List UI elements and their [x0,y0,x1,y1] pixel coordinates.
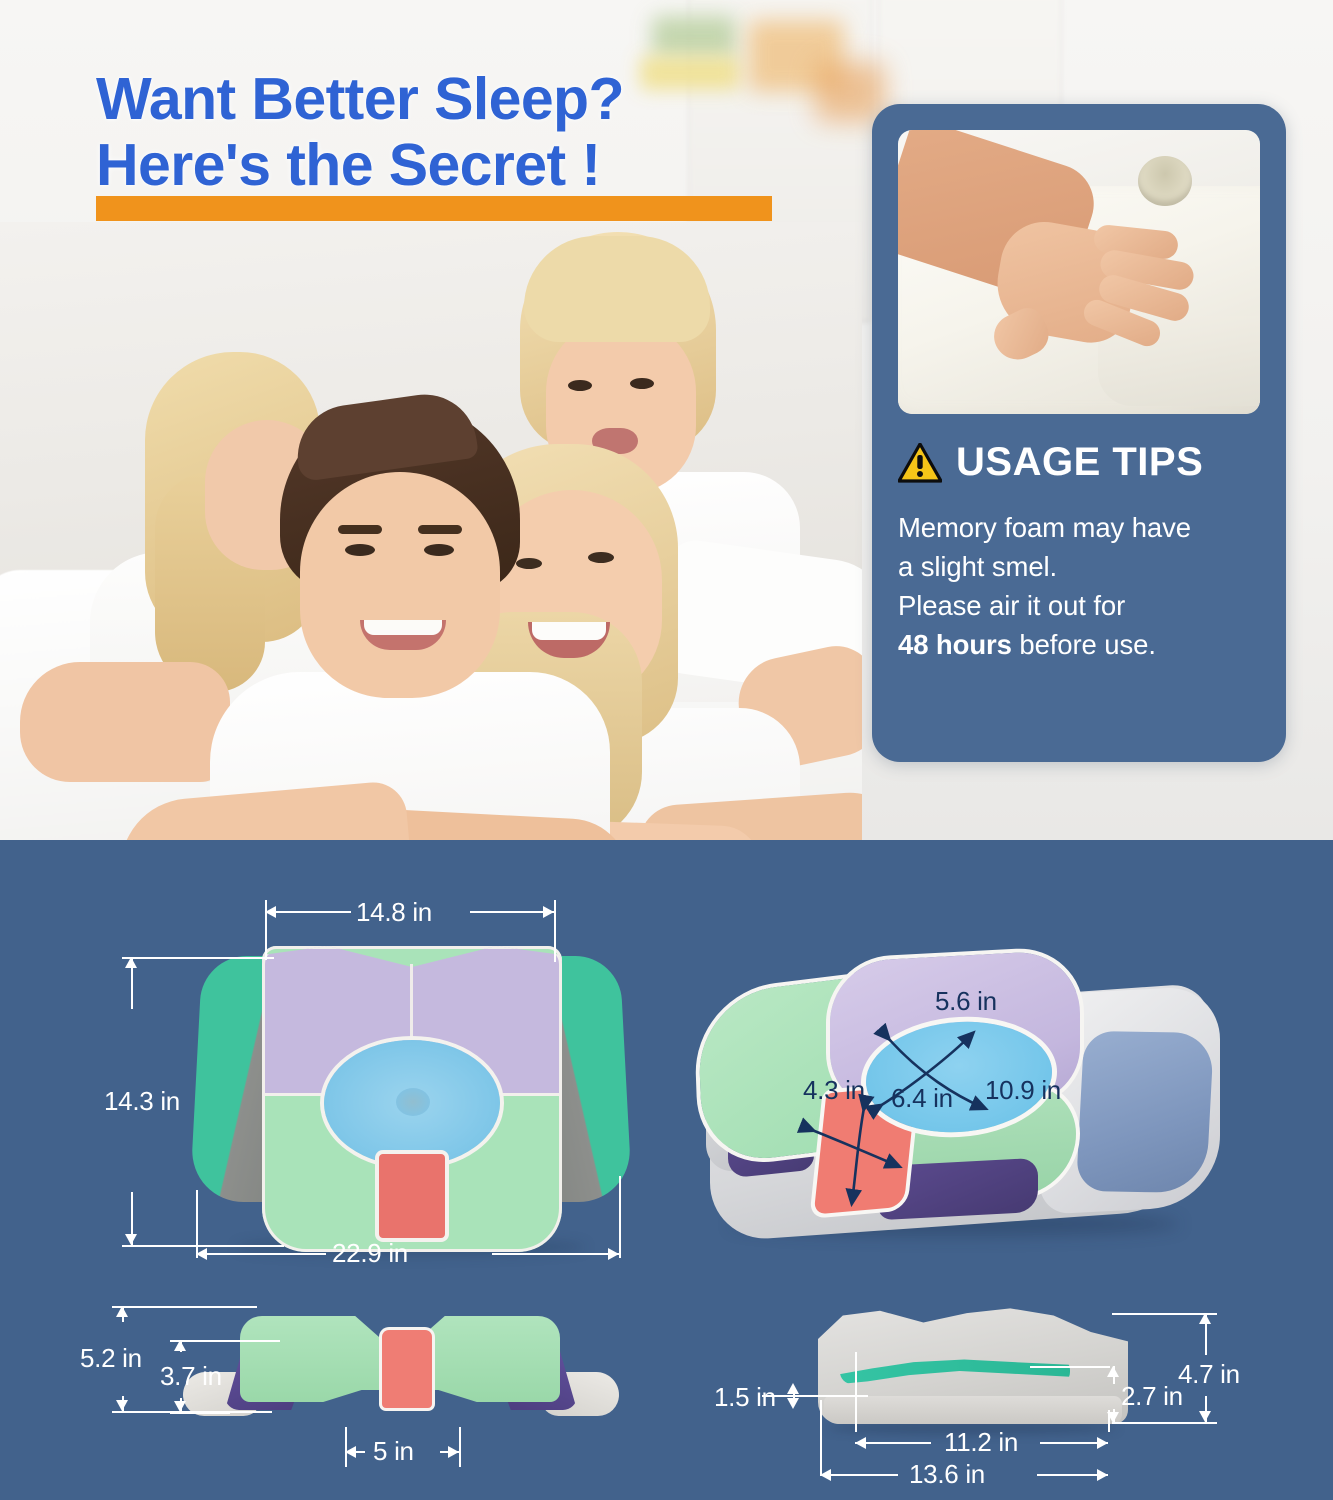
sv-outer-ext-top [112,1306,257,1308]
sv-outer-arrow-down [116,1400,128,1411]
usage-tips-body: Memory foam may have a slight smel. Plea… [898,508,1274,664]
fv-top-arrow-left [265,906,276,918]
usage-tips-line-1: Memory foam may have [898,508,1274,547]
family-lifestyle-photo [0,222,862,840]
cs-high-arrow-down [1199,1411,1211,1422]
cs-low-ext-top [1030,1366,1110,1368]
cs-inner-length-label: 11.2 in [944,1427,1018,1458]
cs-base-arrow-up [787,1383,799,1394]
cs-low-arrow-down [1107,1412,1119,1423]
fv-left-ext-bottom [122,1245,284,1247]
usage-tips-line-3: Please air it out for [898,586,1274,625]
usage-tips-line-4: 48 hours before use. [898,625,1274,664]
side-neck-support [382,1330,432,1408]
foam-vent-hole [1138,156,1192,206]
usage-tips-hours-bold: 48 hours [898,629,1012,660]
fv-left-height-label: 14.3 in [104,1086,180,1117]
cs-base-layer [824,1396,1122,1424]
fv-bottom-dim-line-b [492,1253,619,1255]
warning-triangle-icon [898,443,942,483]
cs-outer-ext-left [820,1400,822,1476]
cs-base-height-label: 1.5 in [714,1382,776,1413]
cs-outer-arrow-right [1097,1469,1108,1481]
father-eye-left [345,544,375,556]
usage-tips-line-2: a slight smel. [898,547,1274,586]
sv-outer-height-label: 5.2 in [80,1343,142,1374]
persp-arrow-neck-depth [852,1108,864,1202]
persp-dimension-arrows [760,990,1120,1250]
fv-bottom-arrow-left [196,1248,207,1260]
cs-low-arrow-up [1107,1366,1119,1377]
decor-lamp-blur-2 [815,62,885,122]
persp-cradle-width-label: 5.6 in [935,986,997,1017]
girl-arm [20,662,230,782]
pillow-side-profile-view [185,1316,615,1446]
sv-inner-ext-top [170,1340,280,1342]
usage-tips-line-4-rest: before use. [1012,629,1156,660]
fv-top-width-label: 14.8 in [356,897,432,928]
headline-line-1: Want Better Sleep? [96,66,796,132]
sv-inner-height-label: 3.7 in [160,1361,222,1392]
cs-outer-line-a [820,1474,898,1476]
sv-inner-arrow-down [174,1401,186,1412]
mother-eye-left [516,558,542,569]
father-face [300,472,500,698]
cs-high-arrow-up [1199,1313,1211,1324]
father-brow-right [418,525,462,534]
cs-high-contour-label: 4.7 in [1178,1359,1240,1390]
sv-center-width-label: 5 in [373,1436,414,1467]
fv-left-ext-top [122,957,274,959]
front-view-cradle-dimple [396,1088,430,1116]
cs-base-ext [762,1395,868,1397]
headline-underline-bar [96,196,772,221]
persp-neck-width-label: 4.3 in [803,1075,865,1106]
fv-bottom-arrow-right [608,1248,619,1260]
cs-outer-arrow-left [820,1469,831,1481]
sv-outer-arrow-up [116,1306,128,1317]
cs-high-ext-bottom [1112,1422,1217,1424]
sv-inner-ext-bottom [170,1412,230,1414]
front-view-neck-support [379,1154,445,1238]
fv-bottom-ext-right [619,1176,621,1258]
sv-inner-arrow-up [174,1340,186,1351]
hero-headline: Want Better Sleep? Here's the Secret ! [96,66,796,198]
cs-inner-arrow-left [855,1437,866,1449]
fv-top-ext-right [554,900,556,962]
boy-hair-bangs [524,236,710,342]
foam-press-photo [898,130,1260,414]
cs-inner-ext-left [855,1352,857,1432]
persp-cradle-length-label: 10.9 in [985,1075,1061,1106]
headline-line-2: Here's the Secret ! [96,132,796,198]
sv-center-arrow-left [345,1446,356,1458]
cs-low-contour-label: 2.7 in [1121,1381,1183,1412]
hero-section: Want Better Sleep? Here's the Secret ! U… [0,0,1333,840]
father-teeth [364,620,442,635]
fv-bottom-dim-line-a [196,1253,326,1255]
father-brow-left [338,525,382,534]
cs-base-arrow-down [787,1398,799,1409]
usage-tips-title-row: USAGE TIPS [898,440,1268,485]
mother-teeth [532,622,606,640]
usage-tips-title: USAGE TIPS [956,440,1203,485]
cs-inner-arrow-right [1097,1437,1108,1449]
fv-left-arrow-down [125,1234,137,1245]
cs-outer-length-label: 13.6 in [909,1459,985,1490]
fv-top-dim-line-a [265,911,351,913]
father-eye-right [424,544,454,556]
pillow-cross-section-view [818,1306,1128,1434]
pillow-front-view [196,946,626,1256]
mother-eye-right [588,552,614,563]
fv-left-arrow-up [125,957,137,968]
fv-top-arrow-right [543,906,554,918]
persp-neck-depth-label: 6.4 in [891,1083,953,1114]
fv-top-dim-line-b [470,911,554,913]
boy-eye-left [568,380,592,391]
decor-green-blur [652,16,736,58]
persp-arrow-neck-width [812,1130,898,1166]
sv-center-ext-right [459,1427,461,1467]
fv-bottom-width-label: 22.9 in [332,1238,408,1269]
cs-inner-line-a [855,1442,931,1444]
usage-tips-panel: USAGE TIPS Memory foam may have a slight… [872,104,1286,762]
sv-center-arrow-right [448,1446,459,1458]
boy-eye-right [630,378,654,389]
